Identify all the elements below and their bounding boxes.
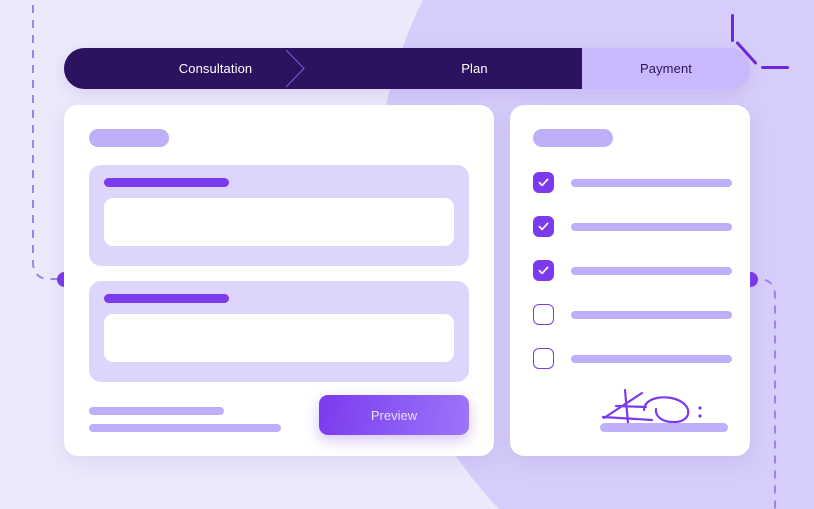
text-input-2[interactable]: [104, 314, 454, 362]
checklist-text-placeholder-5: [571, 355, 732, 363]
signature-line-placeholder: [600, 423, 728, 432]
checklist-text-placeholder-4: [571, 311, 732, 319]
checklist-text-placeholder-2: [571, 223, 732, 231]
step-payment[interactable]: Payment: [582, 48, 750, 89]
footer-text-placeholder-2: [89, 424, 281, 432]
form-card-title-placeholder: [89, 129, 169, 147]
field-label-placeholder-1: [104, 178, 229, 187]
spark-vertical-icon: [731, 14, 734, 42]
illustration-canvas: Consultation Plan Payment P: [0, 0, 814, 509]
checkbox-unchecked-icon-5[interactable]: [533, 348, 554, 369]
footer-text-placeholder-1: [89, 407, 224, 415]
form-field-group-1: [89, 165, 469, 266]
checkbox-checked-icon-3[interactable]: [533, 260, 554, 281]
checkbox-checked-icon-2[interactable]: [533, 216, 554, 237]
spark-horizontal-icon: [761, 66, 789, 69]
checklist-item-3[interactable]: [533, 260, 732, 281]
checklist-card-title-placeholder: [533, 129, 613, 147]
checklist-card: [510, 105, 750, 456]
progress-stepper: Consultation Plan Payment: [64, 48, 750, 89]
step-consultation[interactable]: Consultation: [64, 48, 367, 89]
checklist-text-placeholder-3: [571, 267, 732, 275]
connector-path-right: [750, 279, 775, 509]
form-field-group-2: [89, 281, 469, 382]
text-input-1[interactable]: [104, 198, 454, 246]
form-card: Preview: [64, 105, 494, 456]
preview-button[interactable]: Preview: [319, 395, 469, 435]
step-payment-label: Payment: [640, 61, 692, 76]
step-plan[interactable]: Plan: [367, 48, 582, 89]
checklist-item-2[interactable]: [533, 216, 732, 237]
checklist-item-1[interactable]: [533, 172, 732, 193]
checklist-text-placeholder-1: [571, 179, 732, 187]
checkbox-checked-icon-1[interactable]: [533, 172, 554, 193]
checkbox-unchecked-icon-4[interactable]: [533, 304, 554, 325]
field-label-placeholder-2: [104, 294, 229, 303]
step-plan-label: Plan: [461, 61, 487, 76]
checklist-item-4[interactable]: [533, 304, 732, 325]
connector-path-left: [33, 0, 58, 279]
checklist-item-5[interactable]: [533, 348, 732, 369]
step-consultation-label: Consultation: [179, 61, 252, 76]
